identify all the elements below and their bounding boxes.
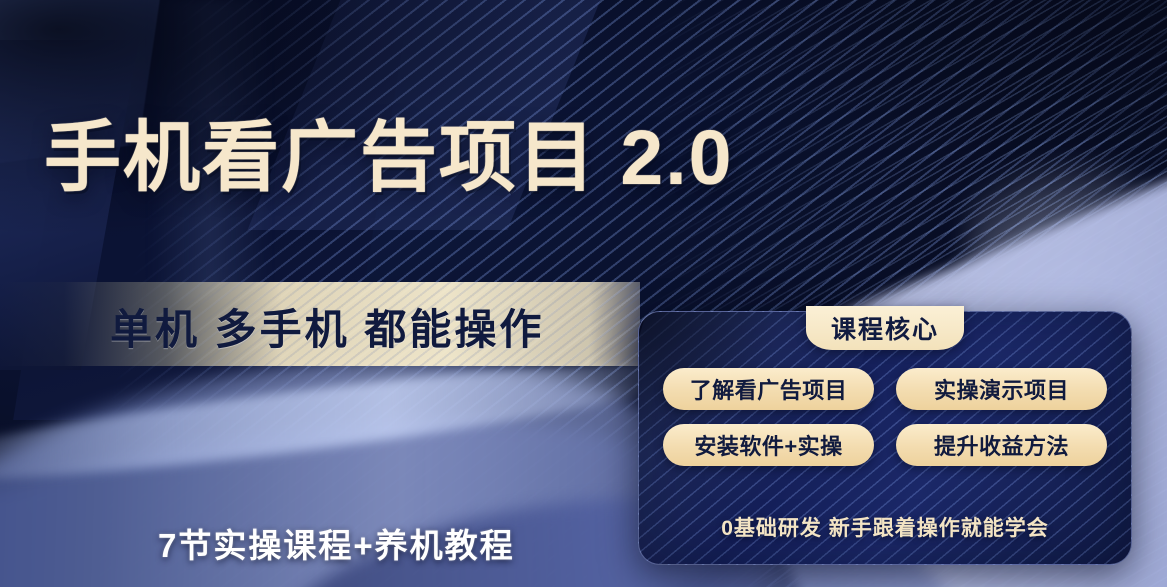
subtitle-text: 单机 多手机 都能操作: [110, 296, 544, 357]
feature-pill[interactable]: 实操演示项目: [896, 368, 1107, 410]
feature-pill-label: 安装软件+实操: [694, 429, 842, 461]
page-title: 手机看广告项目 2.0: [44, 120, 1054, 197]
feature-pill-label: 了解看广告项目: [690, 373, 848, 405]
course-core-badge: 课程核心: [806, 306, 964, 350]
feature-pill[interactable]: 安装软件+实操: [663, 424, 874, 466]
course-count-text: 7节实操课程+养机教程: [158, 519, 515, 567]
course-core-badge-label: 课程核心: [831, 310, 939, 346]
feature-pill-grid: 了解看广告项目 实操演示项目 安装软件+实操 提升收益方法: [663, 368, 1107, 466]
feature-pill-label: 实操演示项目: [934, 373, 1069, 405]
feature-pill[interactable]: 提升收益方法: [896, 424, 1107, 466]
feature-pill[interactable]: 了解看广告项目: [663, 368, 874, 410]
promo-poster: 手机看广告项目 2.0 单机 多手机 都能操作 7节实操课程+养机教程 了解看广…: [0, 0, 1167, 587]
card-footnote: 0基础研发 新手跟着操作就能学会: [639, 512, 1131, 542]
feature-pill-label: 提升收益方法: [934, 429, 1069, 461]
